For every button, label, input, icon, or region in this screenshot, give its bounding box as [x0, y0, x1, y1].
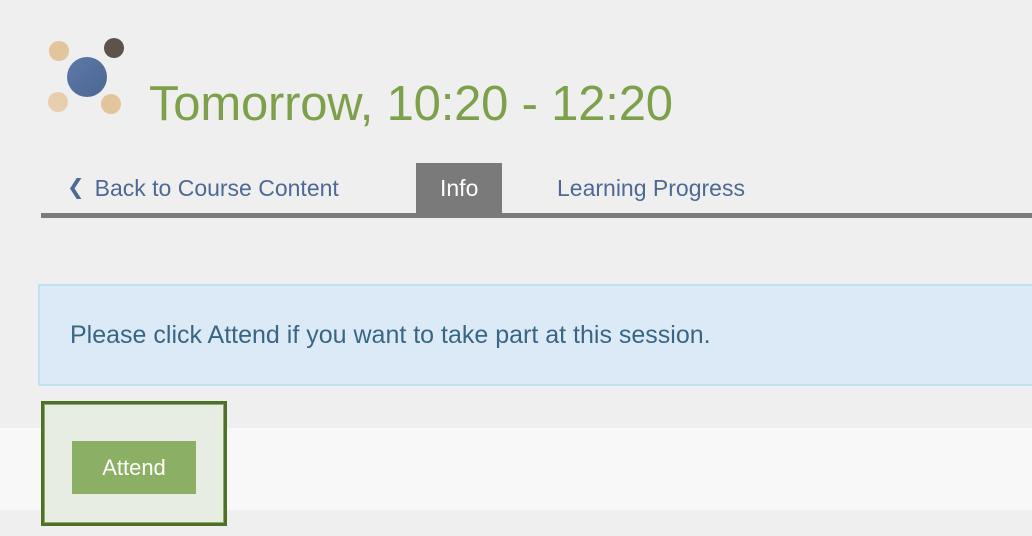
logo-bottom-left-dot [48, 92, 68, 112]
tab-bar-underline [41, 213, 1032, 218]
logo-top-right-dot [104, 38, 124, 58]
tab-info-label: Info [440, 175, 478, 202]
tab-info[interactable]: Info [416, 163, 502, 213]
back-link-label: Back to Course Content [95, 175, 339, 202]
attend-button[interactable]: Attend [72, 441, 196, 494]
logo-top-left-dot [49, 41, 69, 61]
logo-center-circle [67, 57, 107, 97]
logo-bottom-right-dot [101, 94, 121, 114]
page-title: Tomorrow, 10:20 - 12:20 [149, 77, 673, 132]
tab-learning-progress[interactable]: Learning Progress [543, 163, 759, 213]
info-alert-box: Please click Attend if you want to take … [38, 284, 1032, 386]
chevron-left-icon: ❮ [67, 177, 85, 198]
info-alert-message: Please click Attend if you want to take … [40, 321, 711, 350]
back-to-course-content-link[interactable]: ❮ Back to Course Content [67, 163, 339, 213]
tab-bar: ❮ Back to Course Content Info Learning P… [41, 163, 1032, 218]
tab-learning-progress-label: Learning Progress [557, 175, 745, 202]
company-logo [48, 38, 126, 116]
page-header: Tomorrow, 10:20 - 12:20 [0, 0, 1032, 148]
